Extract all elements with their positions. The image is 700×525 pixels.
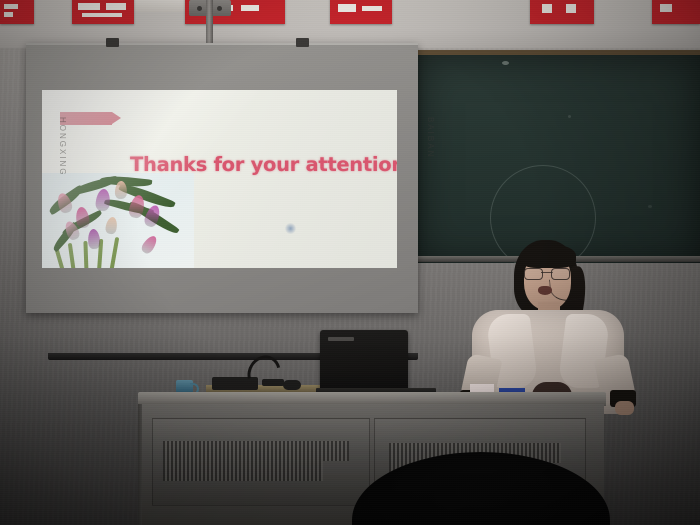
- projection-surface: Thanks for your attention!: [42, 90, 397, 268]
- wall-banner: [0, 0, 34, 24]
- board-mount-clip: [106, 38, 119, 47]
- chalkboard: [418, 50, 700, 263]
- tulip-bud: [95, 188, 111, 211]
- wall-banner: [652, 0, 700, 24]
- tulip-bud: [87, 229, 100, 250]
- remote-control: [283, 380, 301, 390]
- slide-title: Thanks for your attention!: [130, 153, 392, 176]
- laptop-logo: [328, 337, 354, 341]
- mouth: [538, 286, 552, 295]
- podium-vent: [163, 461, 323, 481]
- chalk-speck: [568, 115, 571, 118]
- glasses-icon: [524, 268, 570, 278]
- wall-banner: [330, 0, 392, 24]
- podium-vent: [163, 441, 349, 461]
- tulip-bud: [140, 234, 160, 256]
- tulip-bud: [115, 181, 128, 199]
- hair-fringe: [520, 244, 576, 268]
- wall-banner: [72, 0, 134, 24]
- tulip-bud: [75, 206, 91, 229]
- hand-right: [615, 401, 634, 415]
- presentation-slide: Thanks for your attention!: [42, 90, 397, 268]
- board-brand-text-right: BAIBAN: [426, 117, 435, 158]
- tulip-bud: [105, 216, 119, 235]
- board-mount-clip: [296, 38, 309, 47]
- laptop[interactable]: [320, 330, 408, 392]
- chalk-speck: [502, 61, 509, 65]
- classroom-photo: Thanks for your attention! HONGXING BAIB…: [0, 0, 700, 525]
- headset-band: [262, 379, 284, 386]
- projection-whiteboard: Thanks for your attention! HONGXING BAIB…: [26, 43, 418, 313]
- podium-panel-left: [152, 418, 370, 506]
- wall-banner: [530, 0, 594, 24]
- chalk-speck: [648, 205, 652, 208]
- slide-tulip-photo: [42, 173, 194, 268]
- slide-arrow-shape: [60, 112, 112, 125]
- board-brand-text-left: HONGXING: [58, 117, 67, 177]
- slide-smudge: [285, 223, 296, 234]
